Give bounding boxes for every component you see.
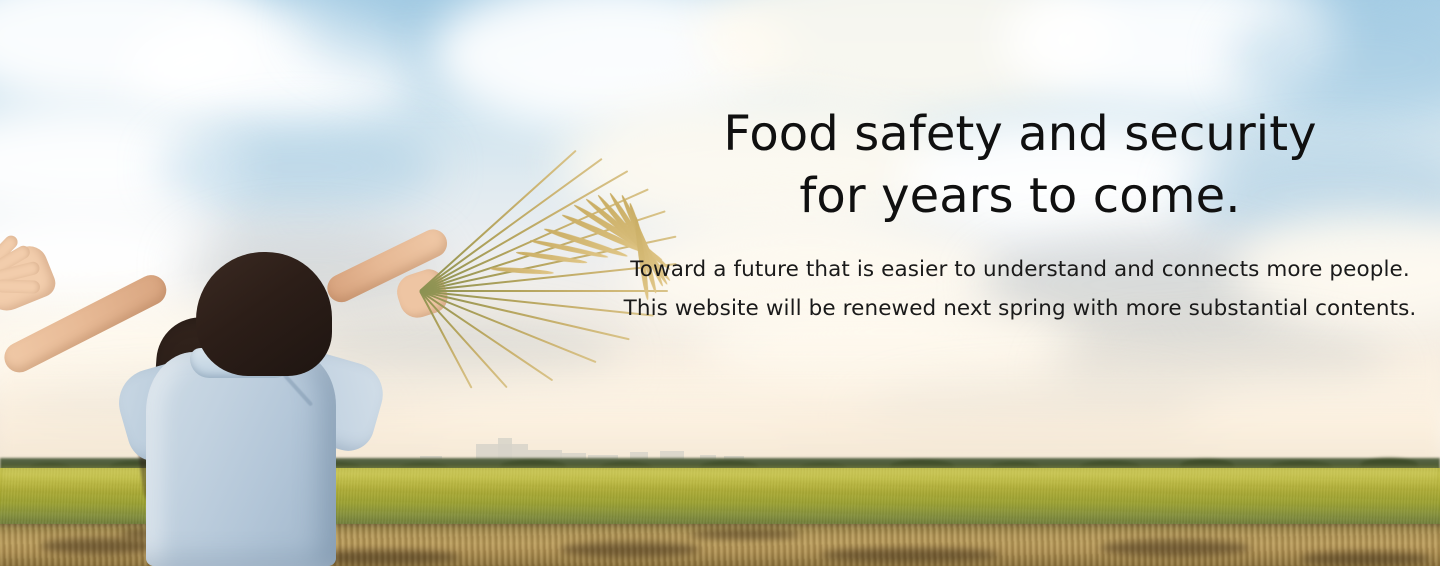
hero-banner: Food safety and security for years to co… xyxy=(0,0,1440,566)
headline-line-2: for years to come. xyxy=(600,165,1440,227)
denim-shirt xyxy=(146,352,336,566)
hero-subcopy: Toward a future that is easier to unders… xyxy=(600,250,1440,328)
hair xyxy=(196,252,332,376)
subcopy-line-1: Toward a future that is easier to unders… xyxy=(600,250,1440,289)
hero-copy: Food safety and security for years to co… xyxy=(600,0,1440,566)
page-title: Food safety and security for years to co… xyxy=(600,103,1440,227)
subcopy-line-2: This website will be renewed next spring… xyxy=(600,289,1440,328)
headline-line-1: Food safety and security xyxy=(723,106,1316,162)
